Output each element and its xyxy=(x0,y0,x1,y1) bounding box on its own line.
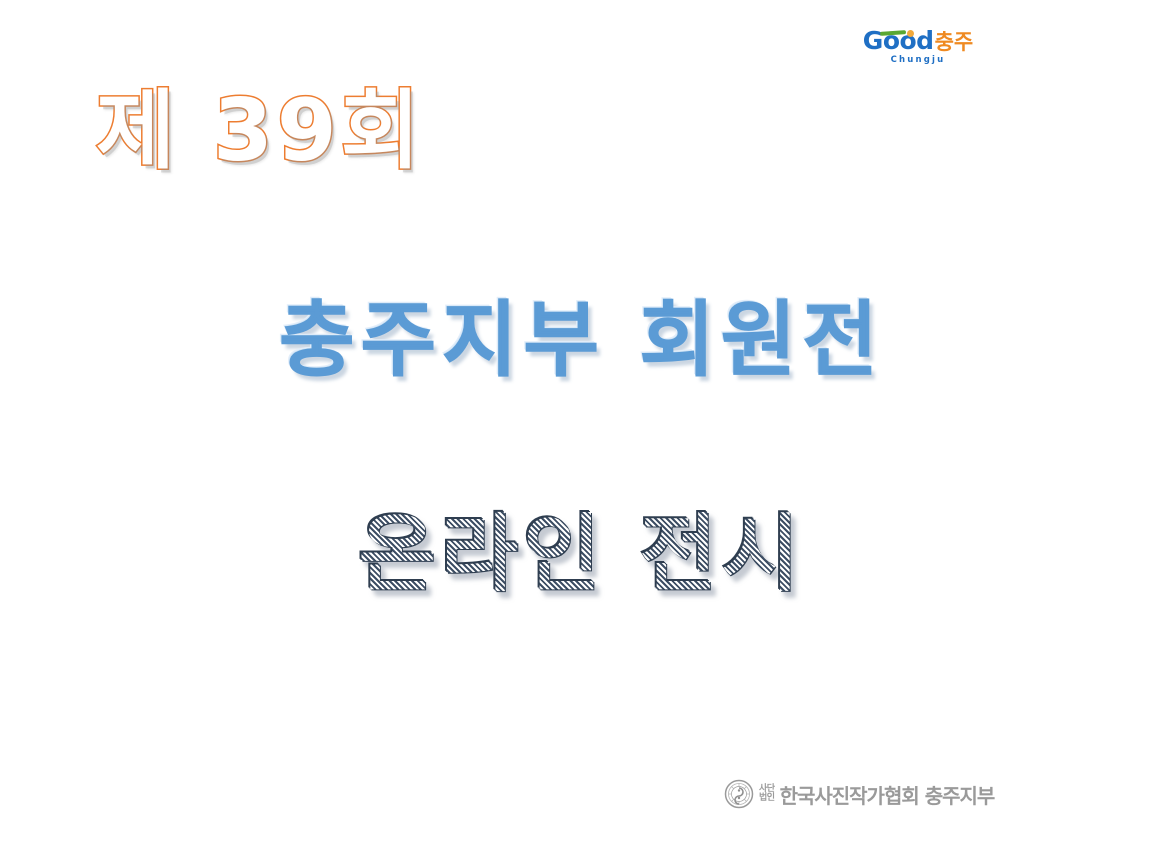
city-logo-korean-text: 충주 xyxy=(935,32,974,53)
edition-title: 제 39회 xyxy=(96,88,424,174)
association-logo: 사단 법인 한국사진작가협회 충주지부 xyxy=(724,779,994,809)
city-logo-romanization: Chungju xyxy=(891,55,946,65)
orange-dot-icon xyxy=(907,30,914,37)
chungju-city-logo: Good 충주 Chungju xyxy=(868,28,968,76)
exhibition-title-primary: 충주지부 회원전 xyxy=(0,296,1163,386)
exhibition-title-secondary: 온라인 전시 xyxy=(0,508,1163,600)
city-logo-wordmark: Good 충주 xyxy=(863,28,973,53)
association-name: 한국사진작가협회 충주지부 xyxy=(780,780,995,809)
association-prefix-line2: 법인 xyxy=(759,794,775,803)
association-prefix: 사단 법인 xyxy=(759,785,775,803)
circular-seal-icon xyxy=(724,779,754,809)
poster-canvas: Good 충주 Chungju 제 39회 충주지부 회원전 온라인 전시 xyxy=(0,0,1163,859)
